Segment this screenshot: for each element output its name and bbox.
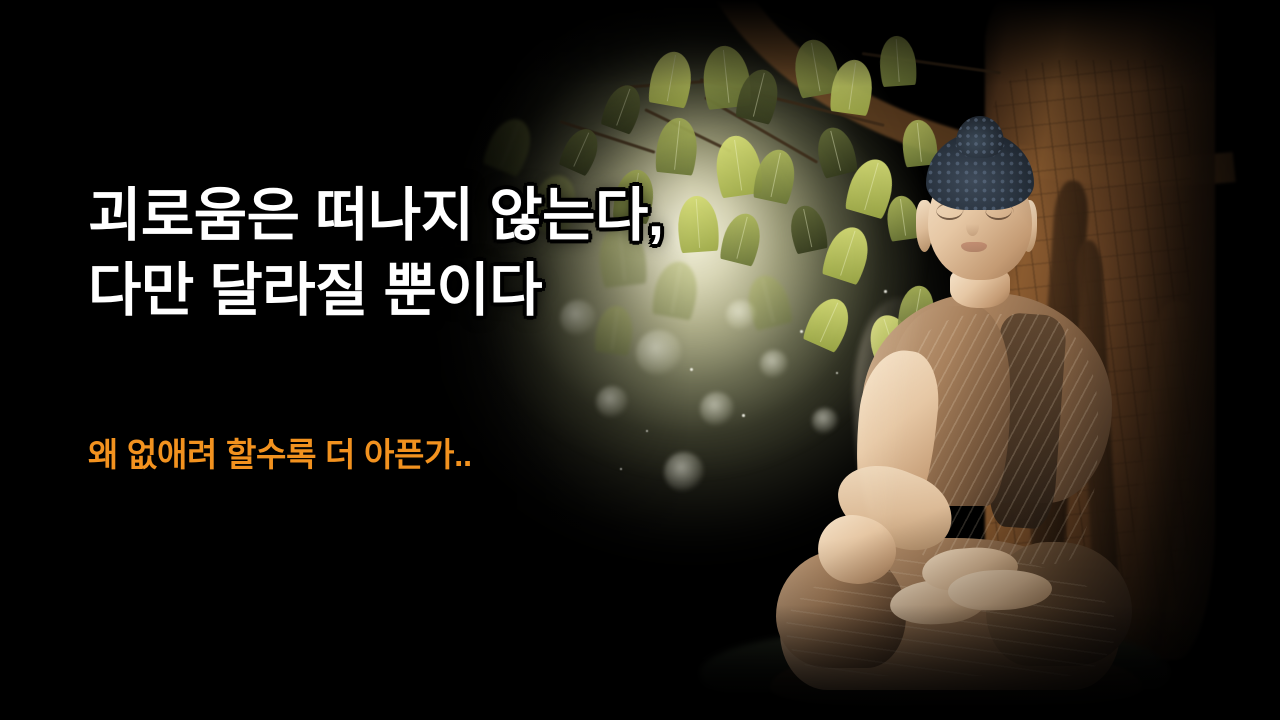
background-artwork — [0, 0, 1280, 720]
vignette-overlay — [0, 0, 1280, 720]
thumbnail-canvas: 괴로움은 떠나지 않는다,다만 달라질 뿐이다 왜 없애려 할수록 더 아픈가.… — [0, 0, 1280, 720]
light-speck — [646, 430, 648, 432]
bodhi-leaf — [878, 35, 917, 87]
buddha-nose — [966, 216, 979, 236]
light-speck — [620, 468, 622, 470]
tree-twig — [700, 78, 885, 126]
bodhi-leaf — [884, 194, 922, 242]
tree-twig — [704, 96, 818, 163]
bokeh-light — [700, 392, 734, 426]
light-speck — [742, 414, 745, 417]
bodhi-leaf — [820, 222, 875, 286]
tree-root — [1024, 179, 1091, 650]
buddha-urna — [974, 194, 979, 199]
bodhi-leaf — [654, 116, 700, 176]
bodhi-leaf — [786, 202, 829, 254]
tree-root — [1121, 299, 1198, 661]
headline-block: 괴로움은 떠나지 않는다,다만 달라질 뿐이다 — [88, 178, 788, 329]
light-speck — [836, 372, 838, 374]
light-speck — [862, 430, 865, 433]
buddha-rim-light — [854, 298, 946, 548]
bodhi-leaf — [734, 65, 783, 125]
tree-twig — [620, 78, 740, 89]
light-speck — [884, 290, 887, 293]
headline-line-2: 다만 달라질 뿐이다 — [88, 253, 788, 328]
headline-line-1: 괴로움은 떠나지 않는다, — [88, 178, 788, 253]
tree-trunk — [985, 0, 1215, 660]
buddha-hair-curls — [926, 132, 1034, 210]
tree-bark-texture — [990, 60, 1190, 620]
buddha-lap — [780, 538, 1120, 690]
tree-twig — [862, 52, 1001, 74]
buddha-lips — [961, 242, 987, 252]
buddha-chest-robe — [890, 306, 1010, 506]
buddha-brow-right — [986, 202, 1014, 213]
buddha-ushnisha — [956, 116, 1004, 158]
bokeh-light — [636, 330, 682, 376]
buddha-seat — [770, 646, 1142, 706]
bodhi-leaf — [790, 36, 841, 98]
letterbox-edges — [0, 0, 1280, 720]
buddha-foot — [889, 577, 988, 628]
bodhi-leaf — [900, 118, 939, 167]
buddha-neck — [950, 268, 1010, 308]
bokeh-light — [812, 408, 838, 434]
tree-twig — [644, 108, 731, 152]
buddha-knee-left — [776, 550, 906, 668]
robe-folds-lap — [786, 556, 1116, 676]
buddha-eye-right — [985, 210, 1012, 220]
buddha-eye-left — [936, 210, 963, 220]
buddha-brow-left — [936, 202, 964, 213]
bodhi-leaf — [700, 44, 752, 110]
buddha-hand-lap-upper — [920, 544, 1019, 594]
buddha-knee-right — [986, 542, 1132, 666]
bodhi-leaf — [829, 57, 876, 116]
bodhi-leaf — [801, 292, 856, 353]
buddha-torso — [862, 293, 1112, 503]
bodhi-leaf — [599, 80, 647, 135]
bokeh-light — [760, 350, 788, 378]
bodhi-leaf — [863, 310, 920, 374]
buddha-forearm-left — [826, 451, 963, 564]
buddha-ear-left — [916, 200, 933, 252]
bodhi-leaf — [843, 154, 899, 219]
bodhi-leaf — [896, 283, 937, 334]
bodhi-leaf — [557, 123, 604, 176]
headline: 괴로움은 떠나지 않는다,다만 달라질 뿐이다 — [88, 178, 788, 329]
buddha-head — [928, 158, 1032, 280]
ground-moss — [700, 630, 1170, 692]
light-speck — [906, 356, 908, 358]
buddha-figure — [770, 118, 1200, 698]
buddha-ushnisha-curls — [956, 116, 1004, 158]
bodhi-leaf — [481, 113, 538, 178]
bokeh-light — [664, 452, 704, 492]
backlight-glow-soft — [380, 30, 1080, 650]
light-speck — [800, 330, 803, 333]
buddha-ear-right — [1020, 200, 1037, 252]
buddha-robe-sash — [987, 312, 1068, 530]
buddha-hair — [926, 132, 1034, 210]
tree-twig — [560, 120, 656, 153]
buddha-hand-left — [812, 509, 902, 592]
bokeh-light — [596, 386, 628, 418]
subheadline: 왜 없애려 할수록 더 아픈가.. — [88, 428, 472, 476]
bodhi-leaf — [647, 49, 696, 109]
light-speck — [690, 368, 693, 371]
buddha-arm-left — [846, 346, 943, 543]
tree-root — [1075, 240, 1123, 661]
robe-folds-chest — [888, 314, 1098, 564]
bodhi-leaf — [813, 124, 860, 179]
buddha-hand-lap-lower — [947, 568, 1052, 612]
